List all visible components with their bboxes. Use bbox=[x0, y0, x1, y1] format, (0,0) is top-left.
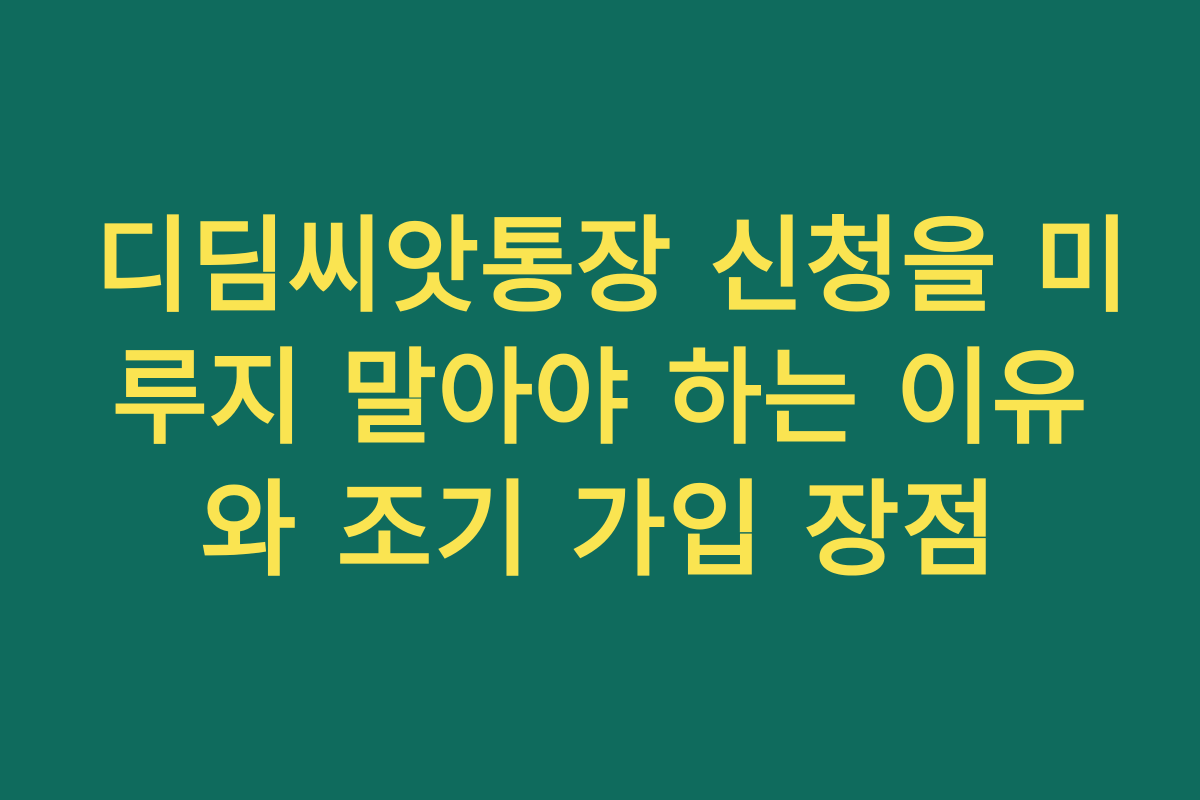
headline-line-2: 루지 말아야 하는 이유 bbox=[95, 332, 1105, 464]
thumbnail-canvas: 디딤씨앗통장 신청을 미 루지 말아야 하는 이유 와 조기 가입 장점 bbox=[0, 0, 1200, 800]
headline-line-1: 디딤씨앗통장 신청을 미 bbox=[95, 200, 1105, 332]
headline-text-block: 디딤씨앗통장 신청을 미 루지 말아야 하는 이유 와 조기 가입 장점 bbox=[95, 200, 1105, 596]
headline-line-3: 와 조기 가입 장점 bbox=[95, 464, 1105, 596]
